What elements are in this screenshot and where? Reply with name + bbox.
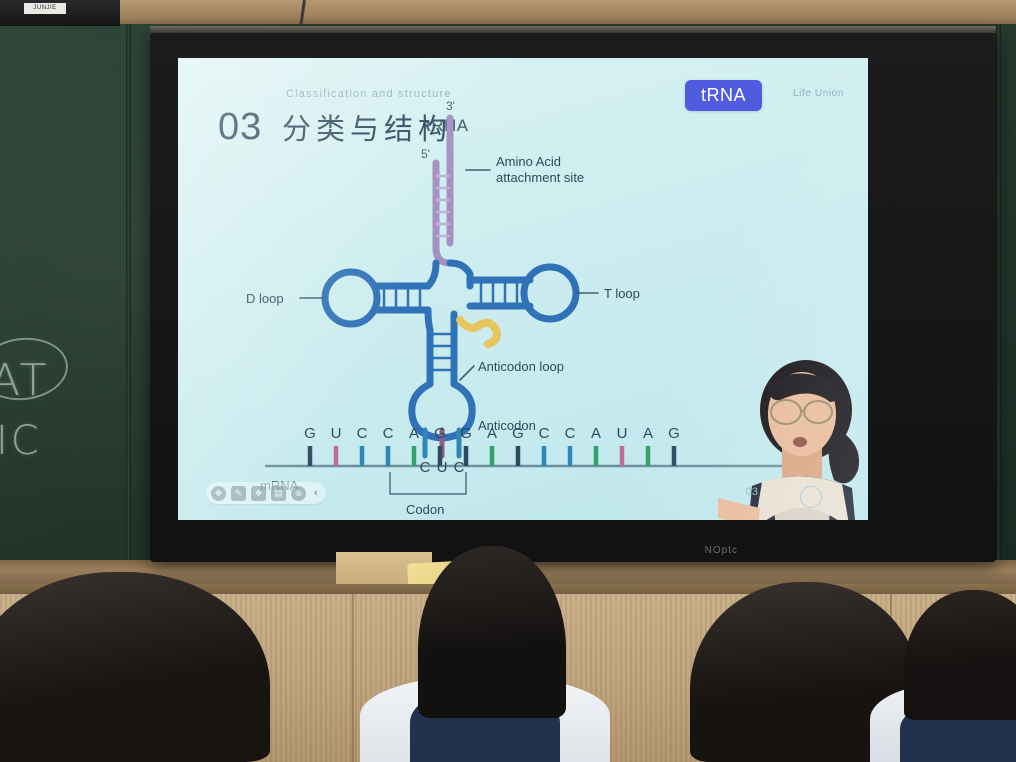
mrna-base-letter: C <box>357 425 368 442</box>
shape-icon[interactable]: ▤ <box>271 486 286 501</box>
mrna-base-letter: U <box>617 425 628 442</box>
svg-text:T loop: T loop <box>604 286 640 301</box>
mrna-base-letter: G <box>460 425 472 442</box>
blackboard-seam <box>996 24 1001 584</box>
chalk-note-at: AT <box>0 355 50 406</box>
svg-text:Anticodon loop: Anticodon loop <box>478 359 564 374</box>
blackboard-seam <box>126 24 131 584</box>
slide-page-number: 03 <box>746 486 758 498</box>
svg-text:attachment site: attachment site <box>496 170 584 185</box>
svg-text:Codon: Codon <box>406 502 444 517</box>
mrna-base-letter: A <box>487 425 497 442</box>
mrna-base-letter: A <box>409 425 419 442</box>
mrna-base-letter: G <box>304 425 316 442</box>
more-icon[interactable]: ⊕ <box>291 486 306 501</box>
chalk-note-ic: IC <box>0 418 42 464</box>
mrna-base-letter: G <box>512 425 524 442</box>
teacher-figure <box>718 358 868 520</box>
presentation-slide[interactable]: 03 Classification and structure 分类与结构 tR… <box>178 58 868 520</box>
eraser-icon[interactable]: ❖ <box>251 486 266 501</box>
svg-text:5': 5' <box>421 147 430 161</box>
svg-text:C: C <box>454 459 465 476</box>
mrna-base-letter: G <box>434 425 446 442</box>
mrna-base-letter: A <box>591 425 601 442</box>
svg-text:C: C <box>420 459 431 476</box>
slide-corner-circle[interactable] <box>800 486 822 508</box>
board-brand-text: NOptc <box>705 545 738 556</box>
mrna-base-letter: U <box>331 425 342 442</box>
smartboard[interactable]: NOptc 03 Classification and structure 分类… <box>150 32 996 562</box>
pen-icon[interactable]: ✎ <box>231 486 246 501</box>
mrna-base-letter: C <box>383 425 394 442</box>
svg-text:Amino Acid: Amino Acid <box>496 154 561 169</box>
mrna-base-sequence: GUCCAGGAGCCAUAG <box>304 425 680 466</box>
pointer-icon[interactable]: ✥ <box>211 486 226 501</box>
svg-text:D loop: D loop <box>246 291 284 306</box>
wall-panel-seam <box>352 594 354 762</box>
mrna-base-letter: G <box>668 425 680 442</box>
mrna-base-letter: A <box>643 425 653 442</box>
svg-text:3': 3' <box>446 99 455 113</box>
mrna-base-letter: C <box>539 425 550 442</box>
speaker-label: JUNJIE <box>24 3 66 14</box>
classroom-scene: AT IC JUNJIE NOptc 03 Classification and… <box>0 0 1016 762</box>
collapse-chevron-icon[interactable]: ‹ <box>311 487 321 499</box>
ceiling-speaker: JUNJIE <box>0 0 120 26</box>
mrna-base-letter: C <box>565 425 576 442</box>
slide-toolbar[interactable]: ✥ ✎ ❖ ▤ ⊕ ‹ <box>206 482 326 504</box>
